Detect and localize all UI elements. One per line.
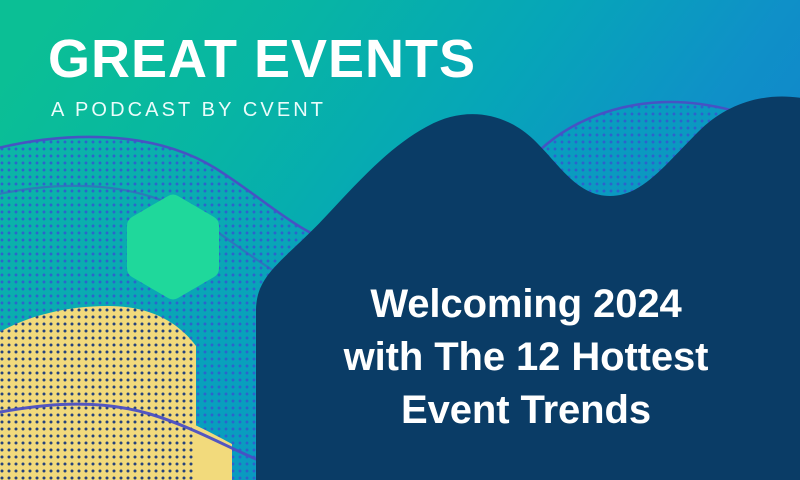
episode-title-line-3: Event Trends xyxy=(306,384,746,437)
brand-block: GREAT EVENTS A PODCAST BY CVENT xyxy=(48,32,476,122)
text-layer: GREAT EVENTS A PODCAST BY CVENT Welcomin… xyxy=(0,0,800,480)
episode-title: Welcoming 2024 with The 12 Hottest Event… xyxy=(306,278,746,438)
episode-title-line-1: Welcoming 2024 xyxy=(306,278,746,331)
brand-subtitle: A PODCAST BY CVENT xyxy=(51,99,476,122)
episode-title-line-2: with The 12 Hottest xyxy=(306,331,746,384)
brand-title: GREAT EVENTS xyxy=(48,32,476,86)
podcast-cover-art: GREAT EVENTS A PODCAST BY CVENT Welcomin… xyxy=(0,0,800,480)
